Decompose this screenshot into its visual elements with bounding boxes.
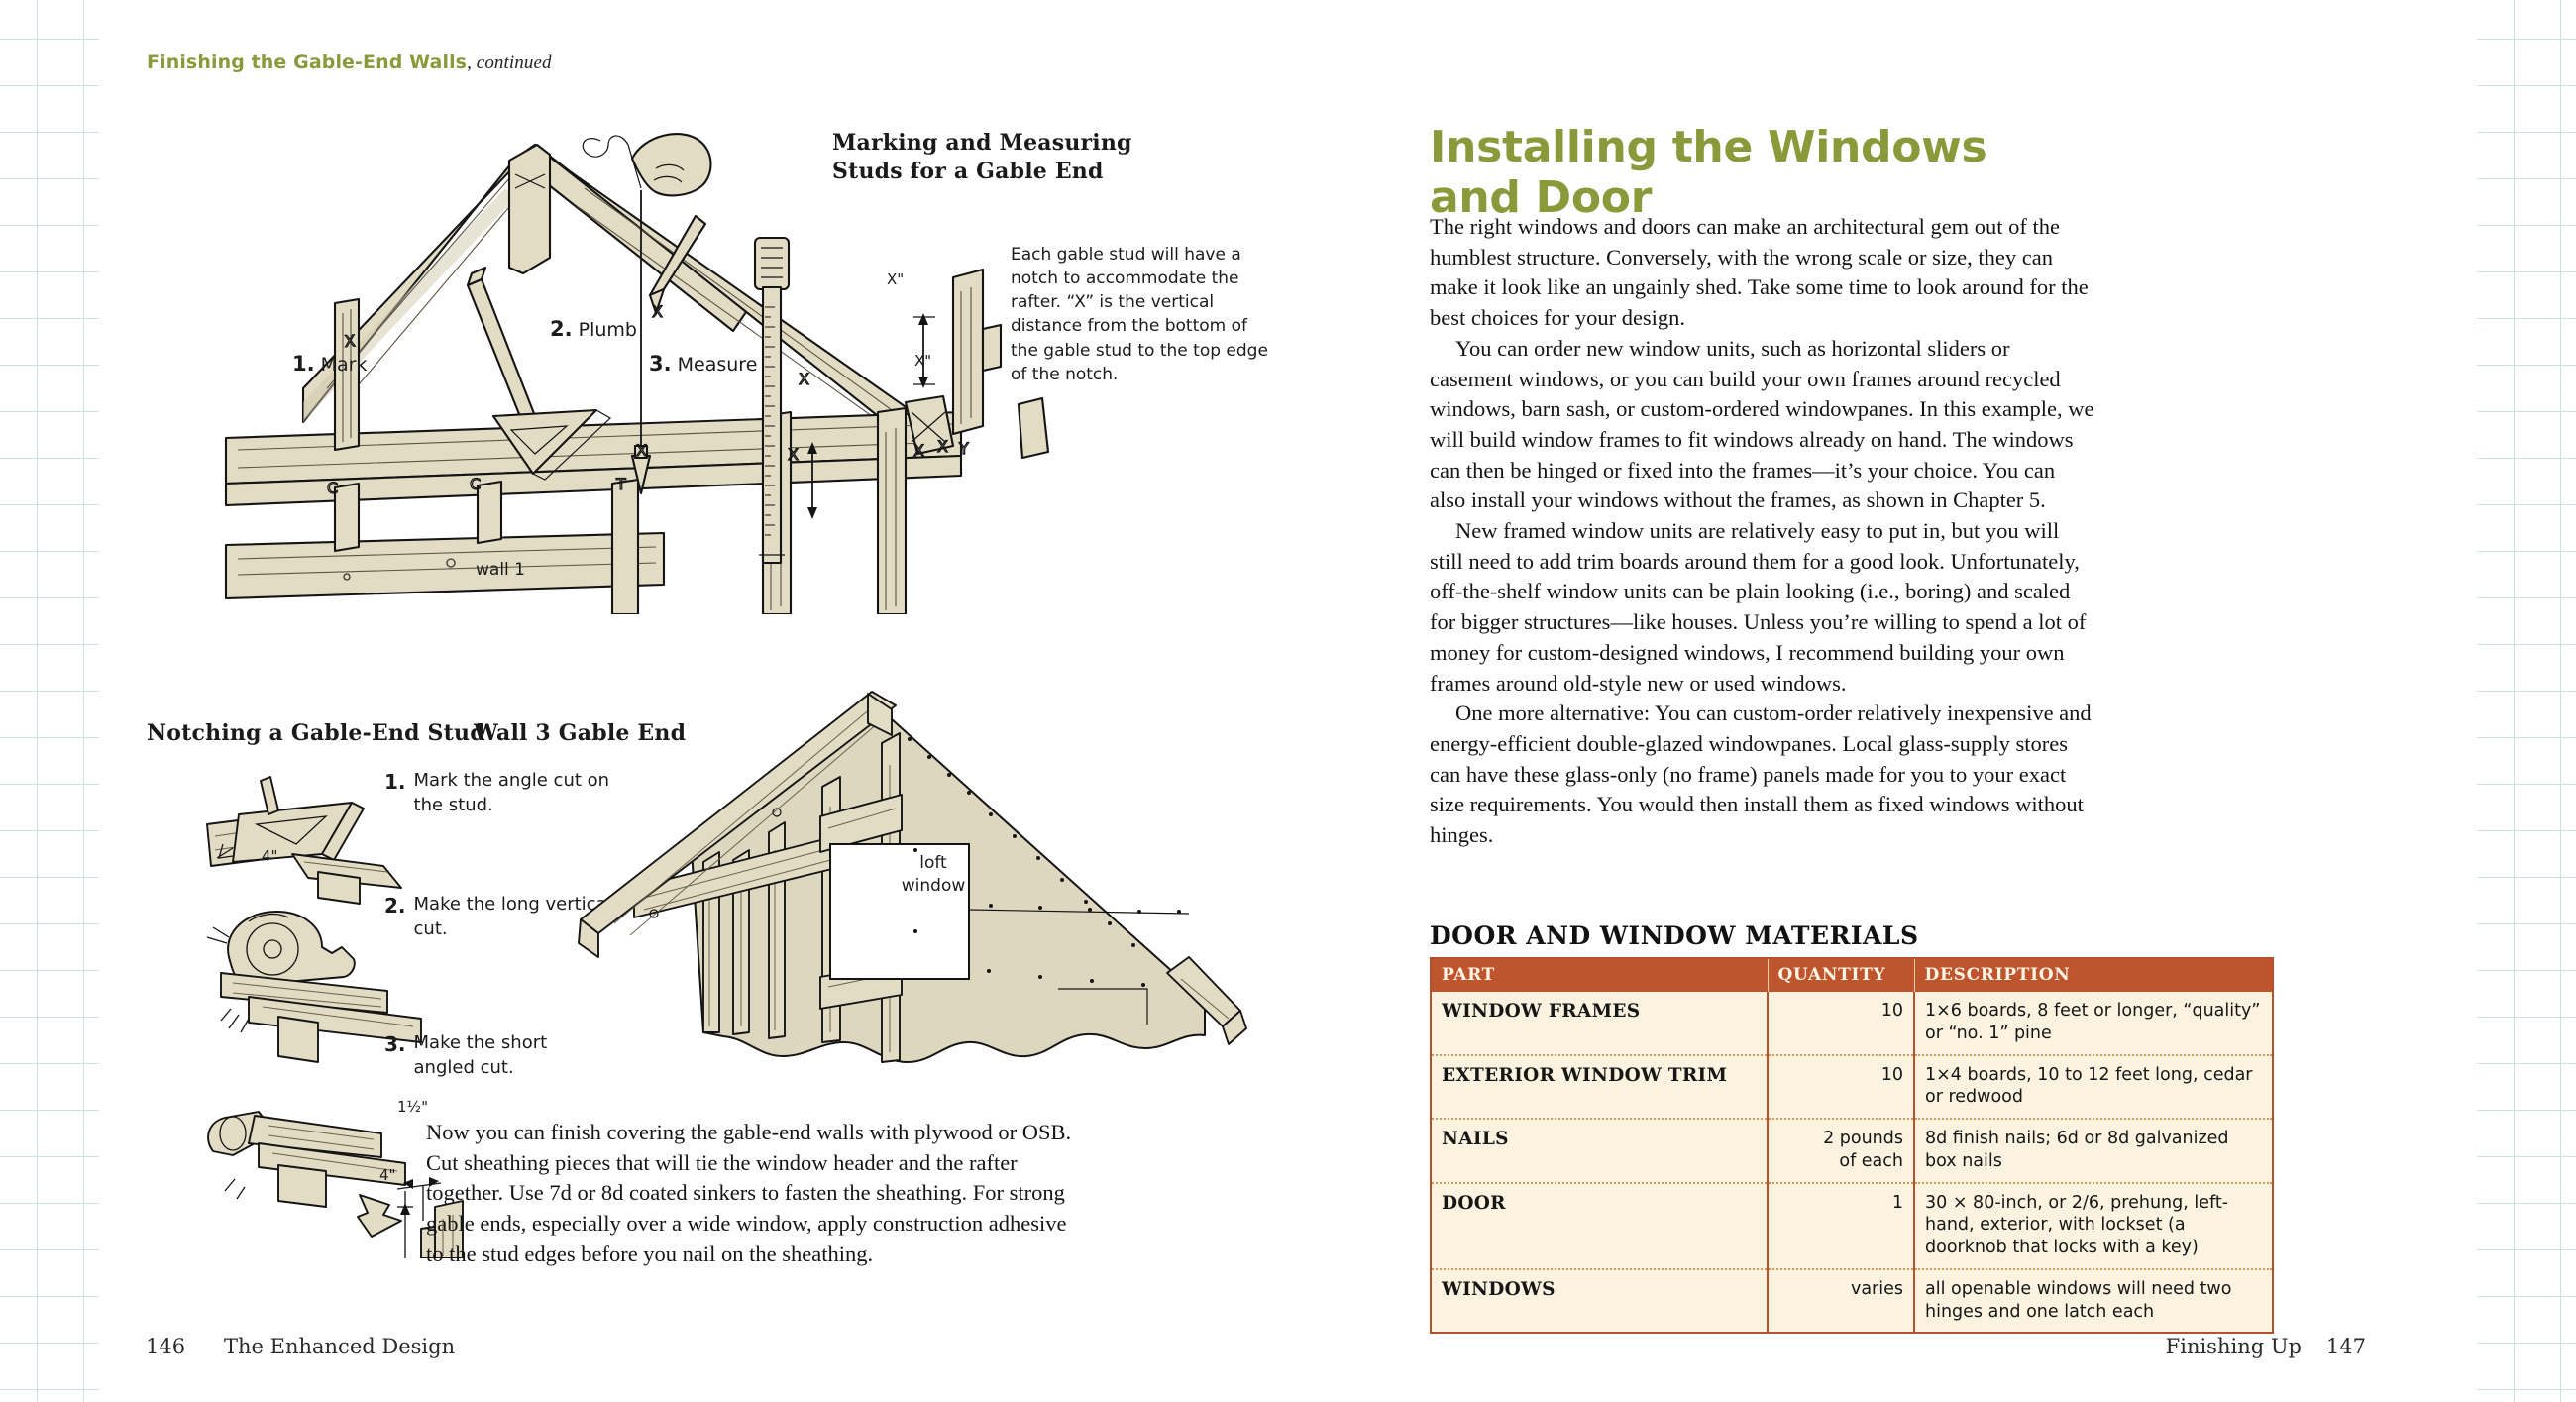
svg-text:X: X: [937, 437, 948, 456]
figure-title-line: Studs for a Gable End: [832, 158, 1132, 186]
cell-description: 1×4 boards, 10 to 12 feet long, cedar or…: [1914, 1055, 2273, 1120]
cell-description: all openable windows will need two hinge…: [1914, 1269, 2273, 1334]
cell-quantity: varies: [1768, 1269, 1914, 1334]
table-header-row: PART QUANTITY DESCRIPTION: [1431, 958, 2273, 992]
folio-page-number-right: 147: [2326, 1335, 2366, 1358]
figure1-step-1-mark: 1. Mark: [292, 352, 368, 376]
table-row: DOOR130 × 80-inch, or 2/6, prehung, left…: [1431, 1183, 2273, 1269]
door-and-window-materials-section: DOOR AND WINDOW MATERIALS PART QUANTITY …: [1430, 921, 2274, 1334]
figure1-step-2-plumb: 2. Plumb: [550, 317, 637, 341]
step-3-number: 3.: [649, 352, 672, 376]
step-1-label: Mark: [321, 354, 368, 376]
cell-description: 1×6 boards, 8 feet or longer, “quality” …: [1914, 992, 2273, 1055]
column-header-quantity: QUANTITY: [1768, 958, 1914, 992]
svg-text:X: X: [652, 302, 663, 321]
figure1-callout-notch-explanation: Each gable stud will have a notch to acc…: [1011, 243, 1273, 386]
cell-quantity: 10: [1768, 992, 1914, 1055]
left-body-paragraph-1: Now you can finish covering the gable-en…: [426, 1118, 1080, 1270]
section-title-installing-windows-and-door: Installing the Windows and Door: [1430, 123, 2024, 222]
step-1-number: 1.: [292, 352, 315, 376]
svg-text:T: T: [615, 475, 626, 493]
notching-dim-1half-in: 1½": [397, 1098, 428, 1116]
cell-part: DOOR: [1431, 1183, 1768, 1269]
step-2-label: Plumb: [579, 319, 637, 341]
svg-text:X: X: [913, 441, 924, 460]
folio-chapter-title-left: The Enhanced Design: [224, 1335, 455, 1358]
running-head-continued: , continued: [467, 53, 552, 73]
notching-step-2-number: 2.: [384, 892, 406, 941]
svg-text:C: C: [470, 475, 481, 493]
notching-step-3-number: 3.: [384, 1030, 406, 1080]
step-2-number: 2.: [550, 317, 573, 341]
step-3-label: Measure: [678, 354, 758, 376]
table-row: NAILS2 poundsof each8d finish nails; 6d …: [1431, 1119, 2273, 1183]
cell-quantity: 1: [1768, 1183, 1914, 1269]
folio-chapter-title-right: Finishing Up: [2166, 1335, 2302, 1358]
svg-text:X: X: [344, 331, 356, 351]
loft-window-line2: window: [889, 875, 978, 898]
cell-description: 30 × 80-inch, or 2/6, prehung, left-hand…: [1914, 1183, 2273, 1269]
right-body-paragraph-3: New framed window units are relatively e…: [1430, 516, 2095, 699]
svg-text:C: C: [327, 479, 338, 497]
cell-part: WINDOWS: [1431, 1269, 1768, 1334]
figure-title-line: Marking and Measuring: [832, 129, 1132, 158]
column-header-description: DESCRIPTION: [1914, 958, 2273, 992]
figure3-loft-window-label: loft window: [889, 852, 978, 898]
right-page: Installing the Windows and Door The righ…: [1288, 0, 2477, 1402]
cell-part: EXTERIOR WINDOW TRIM: [1431, 1055, 1768, 1120]
figure1-dim-x-stud: X": [914, 352, 931, 370]
materials-table: PART QUANTITY DESCRIPTION WINDOW FRAMES1…: [1430, 957, 2274, 1334]
cell-quantity: 10: [1768, 1055, 1914, 1120]
notching-dim-4in-top: 4": [262, 847, 277, 865]
right-body-paragraph-1: The right windows and doors can make an …: [1430, 212, 2095, 334]
svg-text:Y: Y: [958, 439, 969, 458]
running-head-title: Finishing the Gable-End Walls: [147, 52, 467, 73]
svg-text:X: X: [788, 445, 799, 464]
book-page-spread: Finishing the Gable-End Walls, continued…: [0, 0, 2576, 1402]
folio-page-number-left: 146: [146, 1335, 185, 1358]
table-row: WINDOW FRAMES101×6 boards, 8 feet or lon…: [1431, 992, 2273, 1055]
notching-step-1-number: 1.: [384, 768, 406, 817]
table-row: WINDOWSvariesall openable windows will n…: [1431, 1269, 2273, 1334]
cell-description: 8d finish nails; 6d or 8d galvanized box…: [1914, 1119, 2273, 1183]
figure1-step-3-measure: 3. Measure: [649, 352, 757, 376]
left-page: Finishing the Gable-End Walls, continued…: [99, 0, 1288, 1402]
table-caption: DOOR AND WINDOW MATERIALS: [1430, 921, 2274, 950]
cell-part: WINDOW FRAMES: [1431, 992, 1768, 1055]
cell-quantity: 2 poundsof each: [1768, 1119, 1914, 1183]
svg-text:X: X: [799, 370, 809, 388]
figure-title-notching-stud: Notching a Gable-End Stud: [147, 719, 485, 748]
svg-text:X: X: [636, 441, 647, 460]
running-head: Finishing the Gable-End Walls, continued: [147, 52, 552, 74]
right-page-body-text: The right windows and doors can make an …: [1430, 212, 2095, 851]
right-body-paragraph-4: One more alternative: You can custom-ord…: [1430, 699, 2095, 851]
column-header-part: PART: [1431, 958, 1768, 992]
graph-paper-margin-left: [0, 0, 99, 1402]
table-row: EXTERIOR WINDOW TRIM101×4 boards, 10 to …: [1431, 1055, 2273, 1120]
right-body-paragraph-2: You can order new window units, such as …: [1430, 334, 2095, 516]
figure1-wall-1-label: wall 1: [476, 560, 525, 580]
notching-dim-4in-bottom: 4": [379, 1166, 395, 1184]
figure-title-marking-measuring: Marking and MeasuringStuds for a Gable E…: [832, 129, 1132, 186]
left-page-body-text: Now you can finish covering the gable-en…: [426, 1118, 1080, 1270]
figure1-dim-x-notch: X": [887, 270, 904, 288]
cell-part: NAILS: [1431, 1119, 1768, 1183]
graph-paper-margin-right: [2477, 0, 2576, 1402]
loft-window-line1: loft: [889, 852, 978, 875]
